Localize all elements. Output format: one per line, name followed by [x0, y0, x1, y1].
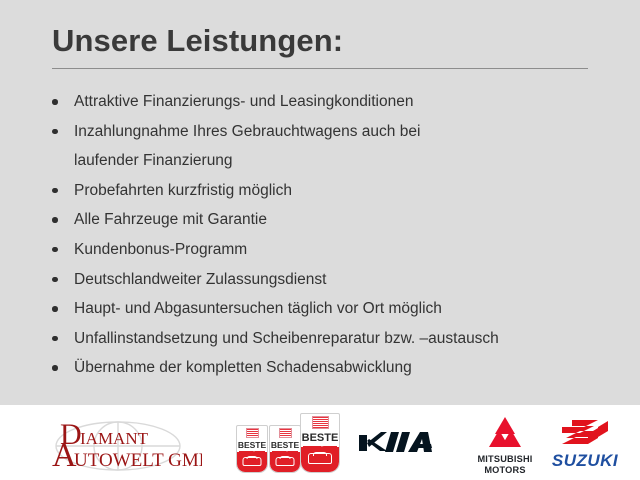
bullet-icon	[52, 306, 58, 312]
badge-header-stripes	[279, 428, 292, 438]
logo-footer: A UTOWELT GMBH D IAMANT BESTE AUTOHÄNDLE…	[0, 405, 640, 480]
list-item-label: Inzahlungnahme Ihres Gebrauchtwagens auc…	[74, 123, 420, 140]
diamant-autowelt-logo: A UTOWELT GMBH D IAMANT	[26, 414, 202, 474]
car-icon	[276, 457, 295, 466]
bullet-icon	[52, 336, 58, 342]
list-item: Haupt- und Abgasuntersuchen täglich vor …	[52, 294, 622, 324]
badge-word: BESTE	[301, 433, 339, 444]
mitsubishi-motors-logo: MITSUBISHI MOTORS	[468, 415, 542, 473]
mitsubishi-label-line2: MOTORS	[468, 465, 542, 476]
svg-text:D: D	[60, 418, 82, 451]
bullet-icon	[52, 277, 58, 283]
kia-logo	[358, 429, 440, 455]
list-item-label: Probefahrten kurzfristig möglich	[74, 182, 292, 199]
bullet-icon	[52, 129, 58, 135]
suzuki-label: SUZUKI	[546, 452, 624, 470]
list-item: Deutschlandweiter Zulassungsdienst	[52, 265, 622, 295]
list-item: Attraktive Finanzierungs- und Leasingkon…	[52, 87, 622, 117]
title-divider	[52, 68, 588, 69]
list-item: Übernahme der kompletten Schadensabwickl…	[52, 353, 622, 383]
bullet-icon	[52, 247, 58, 253]
list-item: Kundenbonus-Programm	[52, 235, 622, 265]
car-icon	[308, 453, 332, 464]
award-badge: BESTE AUTOHÄNDLER 2024	[300, 413, 340, 473]
suzuki-emblem-icon	[546, 417, 624, 447]
list-item: Inzahlungnahme Ihres Gebrauchtwagens auc…	[52, 117, 622, 176]
award-badge: BESTE AUTOHÄNDLER 2024	[236, 425, 268, 473]
list-item-label: Unfallinstandsetzung und Scheibenreparat…	[74, 330, 499, 347]
bullet-icon	[52, 217, 58, 223]
badge-footer	[237, 452, 267, 472]
list-item: Unfallinstandsetzung und Scheibenreparat…	[52, 324, 622, 354]
bullet-icon	[52, 188, 58, 194]
badge-word: BESTE	[237, 441, 267, 450]
list-item-label: Kundenbonus-Programm	[74, 241, 247, 258]
list-item: Probefahrten kurzfristig möglich	[52, 176, 622, 206]
badge-header-stripes	[246, 428, 259, 438]
page-title: Unsere Leistungen:	[52, 22, 588, 60]
list-item-label: Haupt- und Abgasuntersuchen täglich vor …	[74, 300, 442, 317]
badge-header-stripes	[312, 416, 329, 429]
badge-word: BESTE	[270, 441, 300, 450]
list-item-label: Übernahme der kompletten Schadensabwickl…	[74, 359, 412, 376]
bullet-icon	[52, 365, 58, 371]
services-list: Attraktive Finanzierungs- und Leasingkon…	[52, 87, 622, 383]
badge-footer	[270, 452, 300, 472]
badge-footer	[301, 447, 339, 472]
kia-logo-art	[358, 429, 440, 455]
list-item: Alle Fahrzeuge mit Garantie	[52, 205, 622, 235]
bullet-icon	[52, 99, 58, 105]
list-item-label: Attraktive Finanzierungs- und Leasingkon…	[74, 93, 414, 110]
svg-text:UTOWELT GMBH: UTOWELT GMBH	[74, 450, 202, 471]
beste-autohaendler-badges: BESTE AUTOHÄNDLER 2024 BESTE AUTOHÄNDLER…	[236, 411, 340, 475]
car-icon	[243, 457, 262, 466]
award-badge: BESTE AUTOHÄNDLER 2024	[269, 425, 301, 473]
list-item-label: Deutschlandweiter Zulassungsdienst	[74, 271, 326, 288]
list-item-label: Alle Fahrzeuge mit Garantie	[74, 211, 267, 228]
mitsubishi-label-line1: MITSUBISHI	[468, 454, 542, 465]
list-item-label-wrap: laufender Finanzierung	[74, 146, 622, 176]
svg-text:IAMANT: IAMANT	[80, 429, 149, 448]
mitsubishi-emblem-icon	[468, 415, 542, 449]
suzuki-logo: SUZUKI	[546, 417, 624, 469]
title-block: Unsere Leistungen:	[52, 22, 588, 69]
slide-canvas: Unsere Leistungen: Attraktive Finanzieru…	[0, 0, 640, 480]
diamant-autowelt-logo-art: A UTOWELT GMBH D IAMANT	[26, 414, 202, 474]
